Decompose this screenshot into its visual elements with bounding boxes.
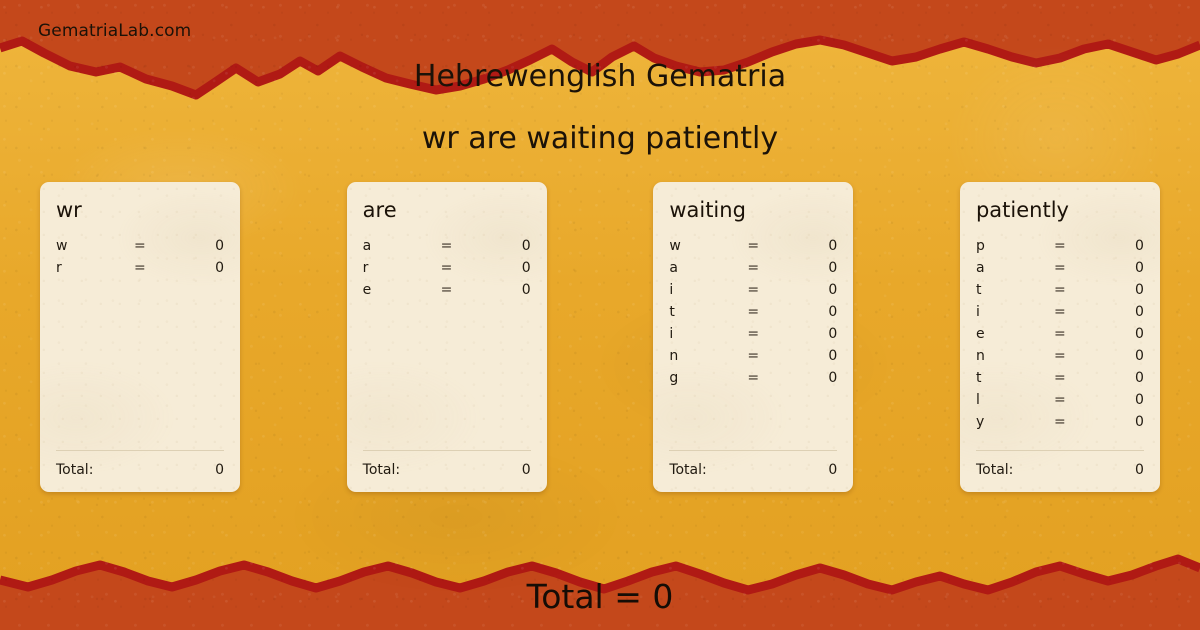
letter-label: i: [976, 304, 1054, 320]
letter-row: n=0: [976, 348, 1144, 370]
word-card: area=0r=0e=0Total:0: [347, 182, 547, 492]
letter-row: a=0: [976, 260, 1144, 282]
equals-sign: =: [747, 326, 807, 342]
card-total-row: Total:0: [976, 450, 1144, 478]
letter-label: y: [976, 414, 1054, 430]
letter-value: 0: [194, 238, 224, 254]
letter-row: t=0: [669, 304, 837, 326]
letter-label: a: [976, 260, 1054, 276]
letter-value: 0: [1114, 282, 1144, 298]
phrase-heading: wr are waiting patiently: [0, 121, 1200, 156]
equals-sign: =: [1054, 348, 1114, 364]
equals-sign: =: [747, 348, 807, 364]
letter-value: 0: [1114, 326, 1144, 342]
word-card-list: wrw=0r=0Total:0area=0r=0e=0Total:0waitin…: [40, 182, 1160, 492]
card-word-title: waiting: [669, 200, 837, 221]
letter-row: p=0: [976, 238, 1144, 260]
card-total-row: Total:0: [56, 450, 224, 478]
letter-row-list: w=0a=0i=0t=0i=0n=0g=0: [669, 238, 837, 450]
card-total-label: Total:: [976, 462, 1013, 478]
equals-sign: =: [747, 238, 807, 254]
word-card: wrw=0r=0Total:0: [40, 182, 240, 492]
letter-label: i: [669, 326, 747, 342]
letter-label: w: [56, 238, 134, 254]
equals-sign: =: [441, 238, 501, 254]
equals-sign: =: [747, 260, 807, 276]
letter-row: e=0: [976, 326, 1144, 348]
letter-value: 0: [501, 282, 531, 298]
letter-label: r: [363, 260, 441, 276]
equals-sign: =: [441, 260, 501, 276]
letter-row: a=0: [363, 238, 531, 260]
card-total-label: Total:: [56, 462, 93, 478]
grand-total: Total = 0: [0, 577, 1200, 616]
card-total-row: Total:0: [669, 450, 837, 478]
card-total-value: 0: [828, 462, 837, 478]
card-total-row: Total:0: [363, 450, 531, 478]
letter-label: a: [669, 260, 747, 276]
card-word-title: patiently: [976, 200, 1144, 221]
letter-value: 0: [807, 326, 837, 342]
letter-value: 0: [807, 348, 837, 364]
letter-row-list: p=0a=0t=0i=0e=0n=0t=0l=0y=0: [976, 238, 1144, 450]
letter-value: 0: [1114, 392, 1144, 408]
letter-label: g: [669, 370, 747, 386]
letter-value: 0: [1114, 348, 1144, 364]
letter-label: n: [669, 348, 747, 364]
card-total-value: 0: [1135, 462, 1144, 478]
equals-sign: =: [1054, 304, 1114, 320]
equals-sign: =: [747, 370, 807, 386]
letter-value: 0: [1114, 260, 1144, 276]
letter-value: 0: [194, 260, 224, 276]
letter-row: e=0: [363, 282, 531, 304]
letter-value: 0: [1114, 370, 1144, 386]
letter-label: e: [363, 282, 441, 298]
letter-label: i: [669, 282, 747, 298]
letter-row: r=0: [56, 260, 224, 282]
letter-label: r: [56, 260, 134, 276]
letter-value: 0: [807, 260, 837, 276]
letter-row: i=0: [976, 304, 1144, 326]
letter-row: t=0: [976, 370, 1144, 392]
letter-label: l: [976, 392, 1054, 408]
equals-sign: =: [747, 304, 807, 320]
letter-row: y=0: [976, 414, 1144, 436]
equals-sign: =: [441, 282, 501, 298]
equals-sign: =: [134, 238, 194, 254]
letter-row: l=0: [976, 392, 1144, 414]
letter-row: t=0: [976, 282, 1144, 304]
letter-label: w: [669, 238, 747, 254]
word-card: waitingw=0a=0i=0t=0i=0n=0g=0Total:0: [653, 182, 853, 492]
letter-value: 0: [501, 260, 531, 276]
card-total-value: 0: [522, 462, 531, 478]
poster-canvas: GematriaLab.com Hebrewenglish Gematria w…: [0, 0, 1200, 630]
equals-sign: =: [747, 282, 807, 298]
card-word-title: wr: [56, 200, 224, 221]
letter-row: a=0: [669, 260, 837, 282]
letter-value: 0: [1114, 414, 1144, 430]
page-title: Hebrewenglish Gematria: [0, 59, 1200, 94]
letter-row: r=0: [363, 260, 531, 282]
letter-value: 0: [501, 238, 531, 254]
equals-sign: =: [1054, 414, 1114, 430]
letter-label: t: [669, 304, 747, 320]
equals-sign: =: [1054, 238, 1114, 254]
equals-sign: =: [1054, 370, 1114, 386]
letter-row: w=0: [669, 238, 837, 260]
equals-sign: =: [1054, 282, 1114, 298]
letter-label: n: [976, 348, 1054, 364]
letter-row: w=0: [56, 238, 224, 260]
letter-label: a: [363, 238, 441, 254]
letter-row: n=0: [669, 348, 837, 370]
card-total-label: Total:: [363, 462, 400, 478]
letter-value: 0: [807, 370, 837, 386]
letter-value: 0: [807, 238, 837, 254]
letter-value: 0: [807, 282, 837, 298]
letter-row: g=0: [669, 370, 837, 392]
letter-value: 0: [1114, 304, 1144, 320]
equals-sign: =: [134, 260, 194, 276]
equals-sign: =: [1054, 260, 1114, 276]
letter-label: t: [976, 370, 1054, 386]
site-logo[interactable]: GematriaLab.com: [38, 21, 191, 41]
equals-sign: =: [1054, 326, 1114, 342]
letter-label: p: [976, 238, 1054, 254]
letter-row-list: a=0r=0e=0: [363, 238, 531, 450]
word-card: patientlyp=0a=0t=0i=0e=0n=0t=0l=0y=0Tota…: [960, 182, 1160, 492]
letter-row: i=0: [669, 326, 837, 348]
letter-row: i=0: [669, 282, 837, 304]
equals-sign: =: [1054, 392, 1114, 408]
letter-row-list: w=0r=0: [56, 238, 224, 450]
letter-label: t: [976, 282, 1054, 298]
letter-value: 0: [807, 304, 837, 320]
card-word-title: are: [363, 200, 531, 221]
letter-value: 0: [1114, 238, 1144, 254]
card-total-value: 0: [215, 462, 224, 478]
card-total-label: Total:: [669, 462, 706, 478]
letter-label: e: [976, 326, 1054, 342]
